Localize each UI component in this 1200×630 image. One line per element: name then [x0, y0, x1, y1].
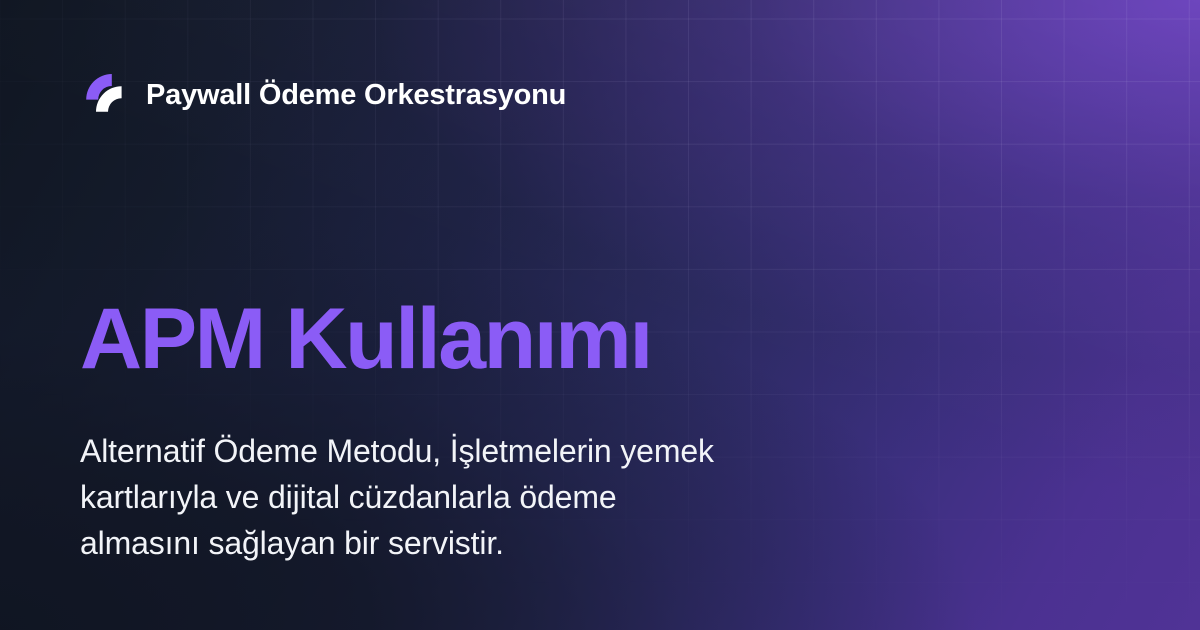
page-title: APM Kullanımı	[80, 296, 651, 382]
brand-header: Paywall Ödeme Orkestrasyonu	[80, 72, 1120, 118]
page-description: Alternatif Ödeme Metodu, İşletmelerin ye…	[80, 428, 880, 566]
banner-content: Paywall Ödeme Orkestrasyonu APM Kullanım…	[0, 0, 1200, 630]
description-line-3: almasını sağlayan bir servistir.	[80, 520, 880, 566]
og-banner-card: Paywall Ödeme Orkestrasyonu APM Kullanım…	[0, 0, 1200, 630]
brand-name-label: Paywall Ödeme Orkestrasyonu	[146, 81, 566, 110]
paywall-swoosh-logo-icon	[80, 72, 126, 118]
description-line-1: Alternatif Ödeme Metodu, İşletmelerin ye…	[80, 428, 880, 474]
description-line-2: kartlarıyla ve dijital cüzdanlarla ödeme	[80, 474, 880, 520]
